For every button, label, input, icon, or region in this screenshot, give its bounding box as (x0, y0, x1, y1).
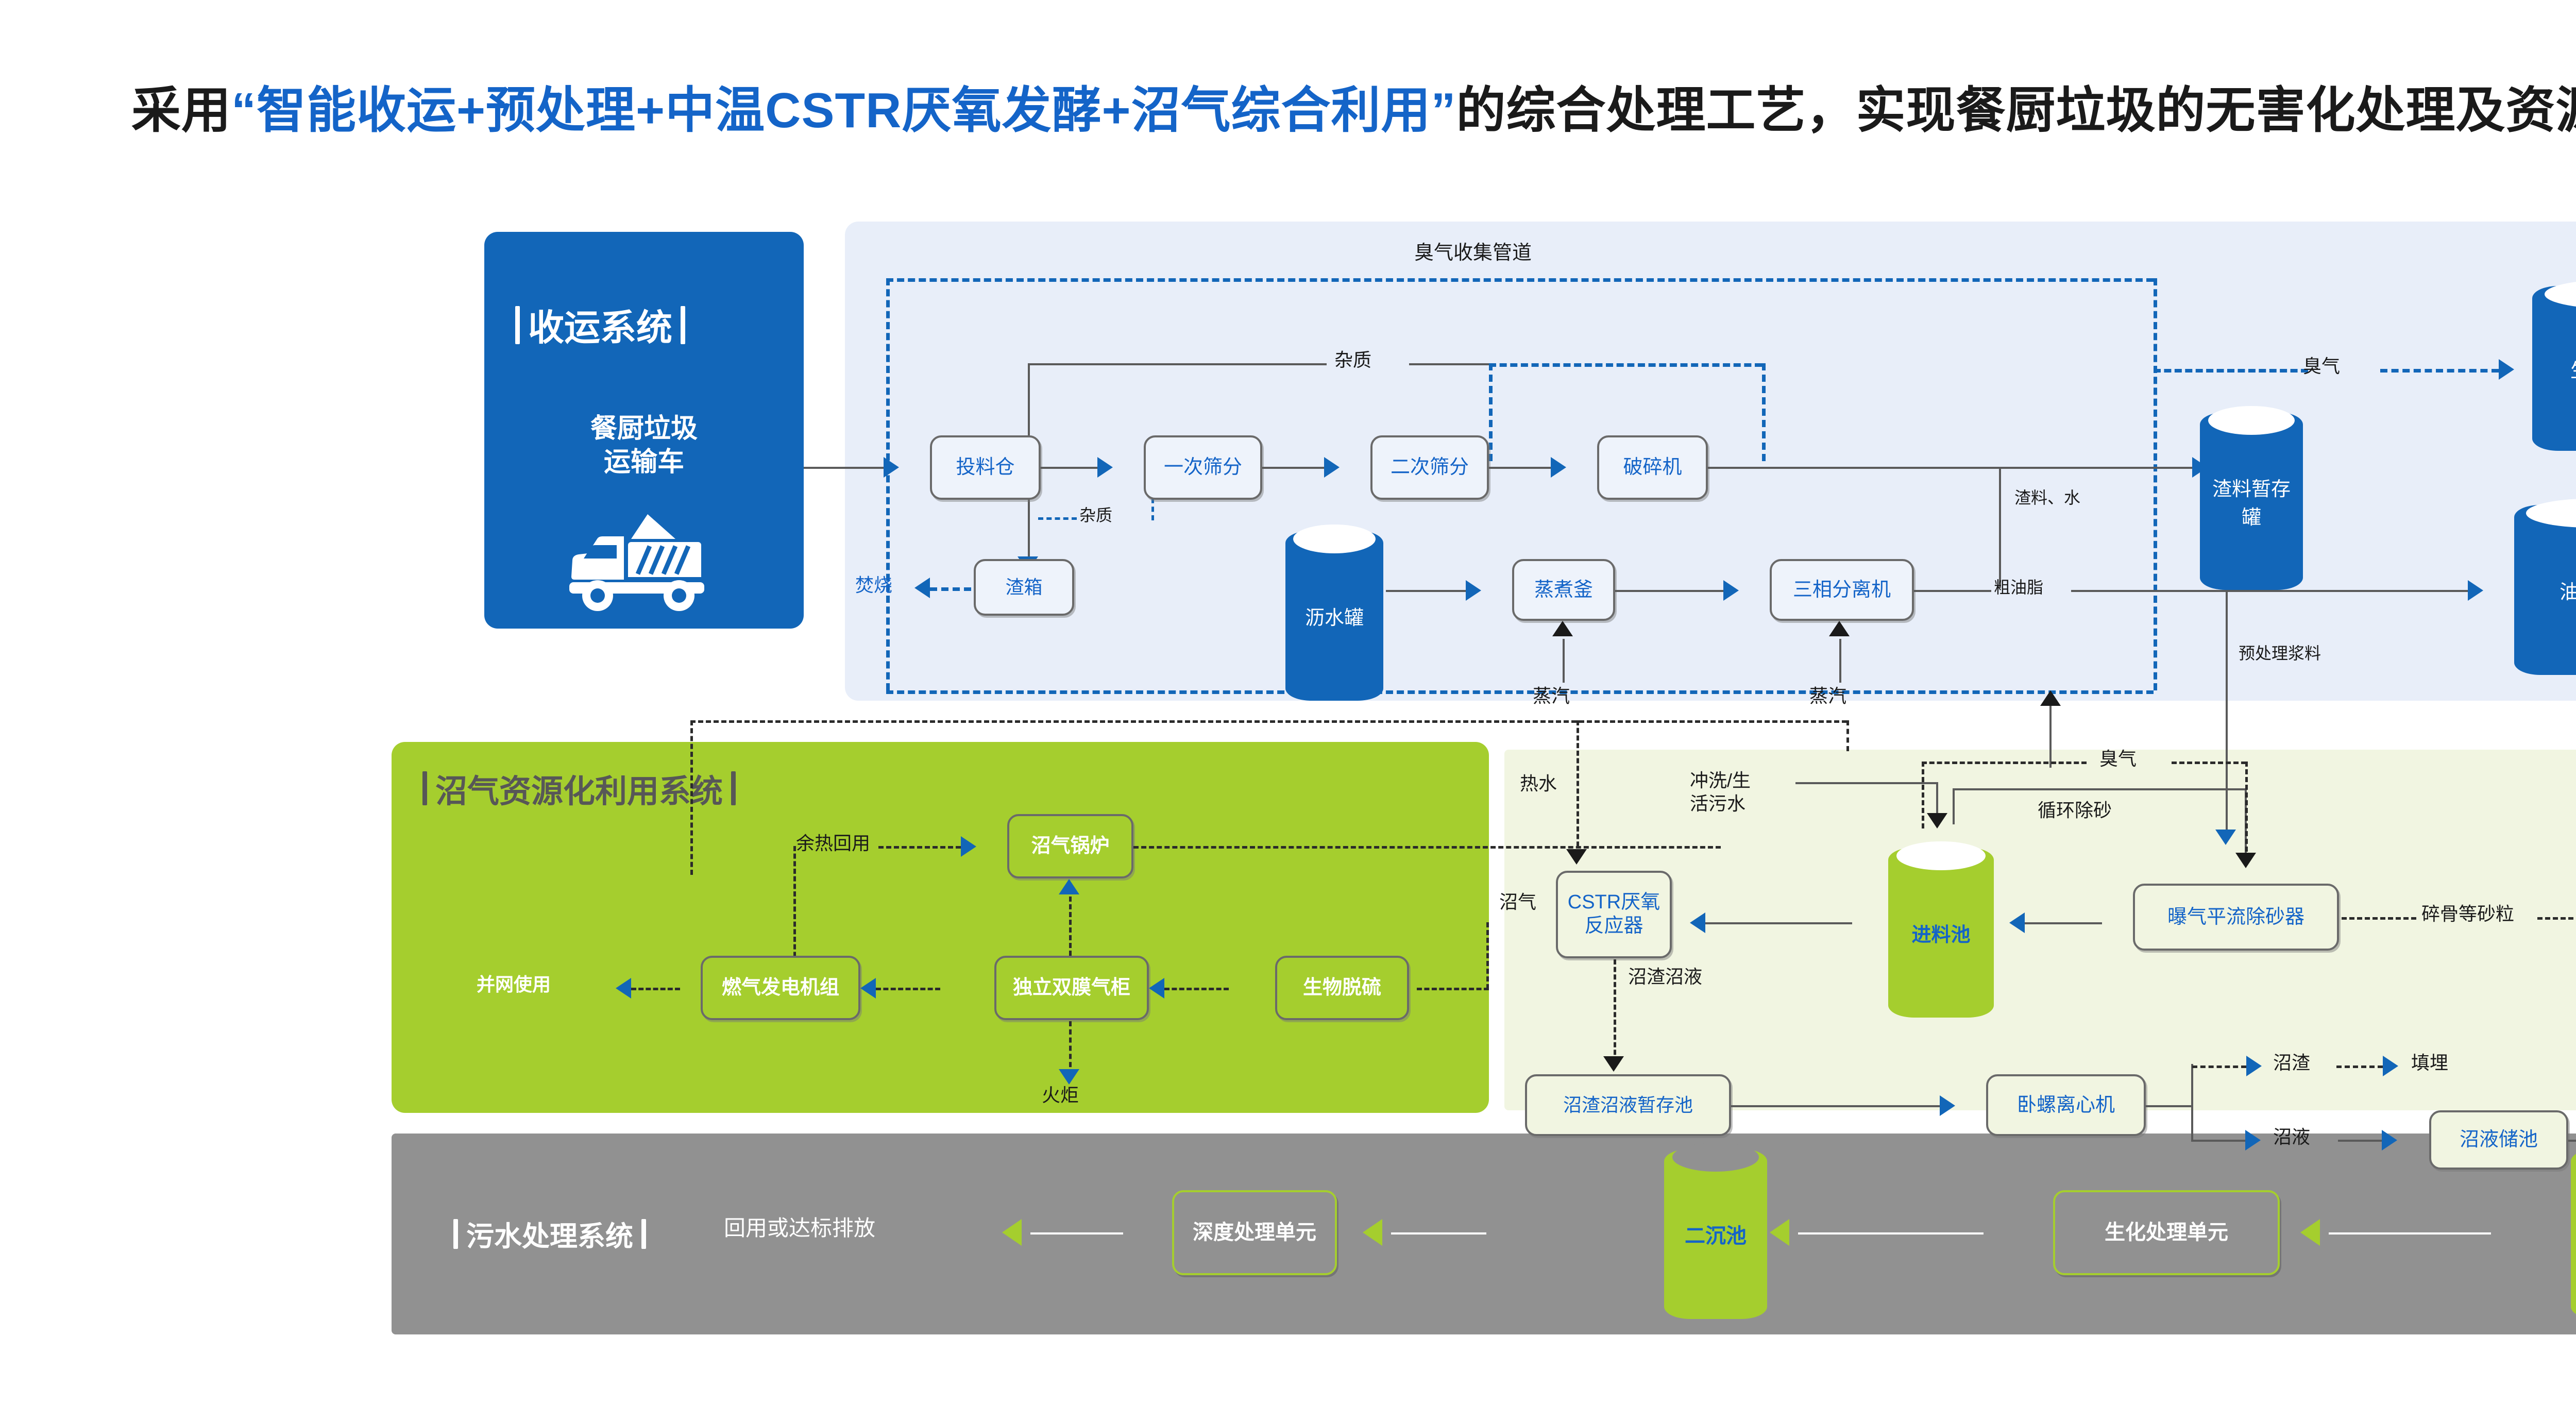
grid-use-arrow (616, 978, 631, 999)
impurity-bottom-dash (1038, 517, 1077, 520)
node-digestate-buffer-pool[interactable]: 沼渣沼液暂存池 (1525, 1074, 1731, 1136)
pretreat-slurry-label: 预处理浆料 (2239, 644, 2321, 663)
flush-arrow (1927, 813, 1947, 828)
anaerobic-odor-label: 臭气 (2099, 748, 2137, 769)
node-bio-desulfurization[interactable]: 生物脱硫 (1275, 956, 1409, 1020)
grit-to-pool-arrow (2009, 912, 2025, 933)
biogas-residue-label: 沼渣 (2273, 1052, 2310, 1073)
buffer-to-centrifuge-arrow (1940, 1095, 1955, 1116)
collection-title-text: 收运系统 (528, 299, 672, 351)
heat-rail-to-boiler (690, 720, 693, 875)
anaerobic-odor-up-line (2049, 706, 2052, 768)
grid-use-label: 并网使用 (477, 974, 551, 995)
grit-recycle-hline (1953, 788, 2246, 790)
hot-water-vline (1577, 720, 1579, 854)
clarifier1-to-bio-arrow (2300, 1219, 2320, 1246)
node-biogas-boiler[interactable]: 沼气锅炉 (1007, 814, 1133, 878)
node-primary-screen[interactable]: 一次筛分 (1144, 435, 1262, 500)
advanced-to-reuse-arrow (1002, 1219, 1022, 1246)
steam1-arrow (1552, 621, 1573, 636)
biogas-label: 沼气 (1499, 891, 1536, 912)
impurity-down-line (1028, 502, 1030, 564)
node-decanter-centrifuge[interactable]: 卧螺离心机 (1986, 1074, 2146, 1136)
steam1-line (1563, 639, 1565, 683)
steam2-line (1839, 639, 1841, 683)
crude-oil-line1 (1914, 590, 1991, 592)
grit-recycle-left-v (1953, 788, 1955, 824)
odor-label-pretreat: 臭气 (2303, 356, 2340, 377)
vehicle-label: 餐厨垃圾 运输车 (495, 412, 793, 479)
odor-to-biofilter-seg2 (2380, 369, 2499, 373)
impurity-dashed-top (1489, 363, 1762, 367)
dump-truck-icon (554, 505, 734, 613)
slurry-to-pool-line (2338, 1140, 2382, 1142)
node-gas-generator-set[interactable]: 燃气发电机组 (701, 956, 860, 1020)
pool-to-cstr-arrow (1690, 912, 1705, 933)
node-residue-storage-tank[interactable]: 渣料暂存罐 (2200, 412, 2303, 590)
biogas-slurry-arrow (2245, 1130, 2261, 1151)
residue-water-vline (1999, 467, 2001, 588)
landfill-dash (2336, 1065, 2383, 1068)
vehicle-label-line2: 运输车 (495, 446, 793, 479)
biogas-slurry-line (2191, 1140, 2245, 1142)
bin-to-screen1-line (1041, 467, 1097, 469)
title-highlight: “智能收运+预处理+中温CSTR厌氧发酵+沼气综合利用” (231, 83, 1456, 138)
screen2-to-crusher-arrow (1551, 457, 1566, 478)
biogas-panel-title: 沼气资源化利用系统 (422, 765, 736, 811)
reuse-or-discharge-label: 回用或达标排放 (724, 1216, 875, 1241)
crude-oil-line2 (2071, 590, 2468, 592)
node-feed-pool[interactable]: 进料池 (1888, 848, 1994, 1018)
drain-to-cooker-line (1386, 590, 1466, 592)
screen1-to-screen2-line (1262, 467, 1324, 469)
screen1-to-screen2-arrow (1324, 457, 1340, 478)
impurity-return-hline (1028, 363, 1327, 365)
incineration-arrow (914, 578, 930, 598)
node-aerated-grit-chamber[interactable]: 曝气平流除砂器 (2133, 884, 2339, 951)
steam2-label: 蒸汽 (1809, 685, 1846, 706)
title-prefix: 采用 (131, 83, 231, 138)
odor-duct-right-edge (2154, 278, 2157, 690)
biogas-residue-arrow (2246, 1056, 2262, 1076)
holder-to-boiler-arrow (1059, 879, 1079, 894)
buffer-to-centrifuge-line (1731, 1105, 1940, 1107)
holder-to-boiler-vline (1069, 896, 1072, 956)
residue-water-label: 渣料、水 (2014, 488, 2080, 508)
node-secondary-clarifier[interactable]: 二沉池 (1664, 1149, 1767, 1319)
node-crusher[interactable]: 破碎机 (1597, 435, 1708, 500)
hot-water-arrow (1566, 849, 1587, 865)
anaerobic-odor-dash-left (1922, 762, 2087, 764)
anaerobic-odor-dash-right (2172, 762, 2246, 764)
biogas-slurry-label: 沼液 (2273, 1126, 2310, 1147)
odor-to-biofilter-seg1 (2154, 369, 2308, 373)
residue-to-incineration-dash (930, 587, 971, 591)
advanced-to-reuse-line (1030, 1232, 1123, 1234)
bin-to-screen1-arrow (1097, 457, 1113, 478)
flush-hline (1795, 782, 1937, 784)
biogas-residue-dash (2192, 1065, 2246, 1068)
landfill-arrow (2383, 1056, 2398, 1076)
slurry-to-pool-arrow (2382, 1130, 2397, 1151)
heat-rail-corner (1846, 720, 1849, 751)
flare-arrow (1059, 1069, 1079, 1085)
boiler-heat-out (1133, 846, 1721, 849)
grit-recycle-arrow (2235, 853, 2256, 868)
title-rule-left (515, 306, 520, 344)
clarifier2-to-advanced-arrow (1363, 1219, 1382, 1246)
waste-heat-label: 余热回用 (796, 833, 870, 854)
pool-to-cstr-line (1705, 922, 1852, 924)
title-rule-right (641, 1219, 646, 1249)
cylinder-cap (1896, 841, 1985, 870)
screen2-to-crusher-line (1489, 467, 1551, 469)
flush-sewage-line1: 冲洗/生 (1690, 769, 1751, 792)
flare-label: 火炬 (1042, 1085, 1079, 1106)
collection-panel-title: 收运系统 (515, 299, 685, 351)
crusher-to-storage-line (1708, 467, 2192, 469)
heat-rail-horizontal (690, 720, 1847, 723)
centrifuge-split-v (2191, 1064, 2193, 1141)
slurry-down-arrow (2215, 830, 2236, 845)
waste-heat-arrow (961, 836, 976, 857)
incineration-label: 焚烧 (855, 574, 892, 596)
pool-to-wwtp-line (2568, 1140, 2576, 1142)
odor-duct-left-edge (886, 278, 890, 690)
impurity-bottom-label: 杂质 (1079, 506, 1112, 525)
bone-grit-label: 碎骨等砂粒 (2421, 903, 2514, 924)
landfill-label: 填埋 (2411, 1052, 2448, 1073)
digestate-label: 沼渣沼液 (1628, 966, 1702, 987)
crude-oil-label: 粗油脂 (1994, 578, 2043, 597)
drain-to-cooker-arrow (1466, 580, 1481, 601)
grit-recycle-label: 循环除砂 (2038, 800, 2112, 821)
odor-duct-bottom-edge (886, 690, 2154, 694)
waste-heat-vline (793, 846, 796, 965)
title-rule-left (422, 771, 427, 805)
node-feed-bin[interactable]: 投料仓 (930, 435, 1041, 500)
waste-heat-dash (878, 846, 961, 849)
node-residue-bin[interactable]: 渣箱 (974, 559, 1074, 616)
clarifier1-to-bio-line (2329, 1232, 2491, 1234)
wastewater-title-text: 污水处理系统 (466, 1213, 633, 1254)
steam1-label: 蒸汽 (1533, 685, 1570, 706)
crude-oil-arrow (2468, 580, 2483, 601)
desulf-to-holder-arrow (1149, 978, 1164, 999)
odor-duct-top-edge (886, 278, 2154, 282)
flush-sewage-line2: 活污水 (1690, 792, 1751, 815)
title-rule-right (681, 306, 685, 344)
centrifuge-split-h (2146, 1105, 2192, 1107)
desulf-to-holder-dash (1164, 988, 1229, 990)
holder-to-gen-dash (876, 988, 940, 990)
page-title: 采用“智能收运+预处理+中温CSTR厌氧发酵+沼气综合利用”的综合处理工艺，实现… (131, 72, 2576, 149)
impurity-dashed-right (1762, 363, 1766, 461)
impurity-return-hline2 (1409, 363, 1489, 365)
biogas-title-text: 沼气资源化利用系统 (435, 765, 723, 811)
gen-to-grid-dash (631, 988, 680, 990)
digestate-arrow (1603, 1056, 1624, 1072)
digestate-vline (1614, 959, 1616, 1062)
holder-to-gen-arrow (860, 978, 876, 999)
bio-to-clarifier2-arrow (1770, 1219, 1789, 1246)
odor-to-biofilter-arrow (2499, 359, 2514, 380)
node-cstr-reactor[interactable]: CSTR厌氧 反应器 (1556, 871, 1672, 958)
grit-to-pool-line (2025, 922, 2102, 924)
node-double-membrane-holder[interactable]: 独立双膜气柜 (994, 956, 1149, 1020)
hot-water-label: 热水 (1520, 773, 1557, 794)
flush-sewage-label: 冲洗/生 活污水 (1690, 769, 1751, 815)
title-rule-right (731, 771, 736, 805)
node-biochemical-unit[interactable]: 生化处理单元 (2053, 1190, 2280, 1275)
node-cooker[interactable]: 蒸煮釜 (1512, 559, 1615, 621)
impurity-top-label: 杂质 (1334, 349, 1371, 370)
wastewater-panel-title: 污水处理系统 (453, 1213, 646, 1254)
node-biofilter[interactable]: 生物滤池 (2532, 286, 2576, 451)
biogas-hline (1417, 988, 1489, 990)
cylinder-cap (2208, 406, 2295, 435)
slurry-down-to-grit (2226, 720, 2228, 839)
title-suffix: 的综合处理工艺，实现餐厨垃圾的无害化处理及资源化利用。 (1456, 83, 2576, 138)
steam2-arrow (1829, 621, 1850, 636)
anaerobic-odor-v-right (2245, 762, 2248, 852)
truck-to-bin-arrow (884, 457, 899, 478)
bone-grit-dash1 (2342, 917, 2416, 920)
node-three-phase-separator[interactable]: 三相分离机 (1770, 559, 1914, 621)
clarifier2-to-advanced-line (1391, 1232, 1486, 1234)
biogas-vline (1486, 922, 1489, 989)
node-drain-tank[interactable]: 沥水罐 (1285, 531, 1383, 701)
node-advanced-treatment-unit[interactable]: 深度处理单元 (1172, 1190, 1337, 1275)
cstr-line2: 反应器 (1568, 915, 1660, 938)
node-digestate-storage-pool[interactable]: 沼液储池 (2429, 1110, 2568, 1170)
node-secondary-screen[interactable]: 二次筛分 (1370, 435, 1489, 500)
anaerobic-odor-up-arrow (2040, 690, 2061, 706)
cylinder-cap (1672, 1143, 1759, 1172)
odor-duct-label: 臭气收集管道 (1414, 242, 1532, 265)
impurity-dashed-mid (1489, 363, 1493, 461)
truck-to-bin-line (804, 467, 884, 469)
flare-vline (1069, 1021, 1072, 1075)
anaerobic-odor-v-left (1922, 762, 1924, 828)
node-oil-tank[interactable]: 油脂罐 (2514, 505, 2576, 675)
vehicle-label-line1: 餐厨垃圾 (495, 412, 793, 446)
cylinder-cap (1293, 525, 1376, 553)
cooker-to-separator-arrow (1723, 580, 1739, 601)
cooker-to-separator-line (1615, 590, 1723, 592)
cstr-line1: CSTR厌氧 (1568, 891, 1660, 915)
node-primary-clarifier[interactable]: 初沉池 (2571, 1149, 2576, 1319)
bio-to-clarifier2-line (1798, 1232, 1984, 1234)
bone-grit-dash2 (2537, 917, 2576, 920)
title-rule-left (453, 1219, 458, 1249)
